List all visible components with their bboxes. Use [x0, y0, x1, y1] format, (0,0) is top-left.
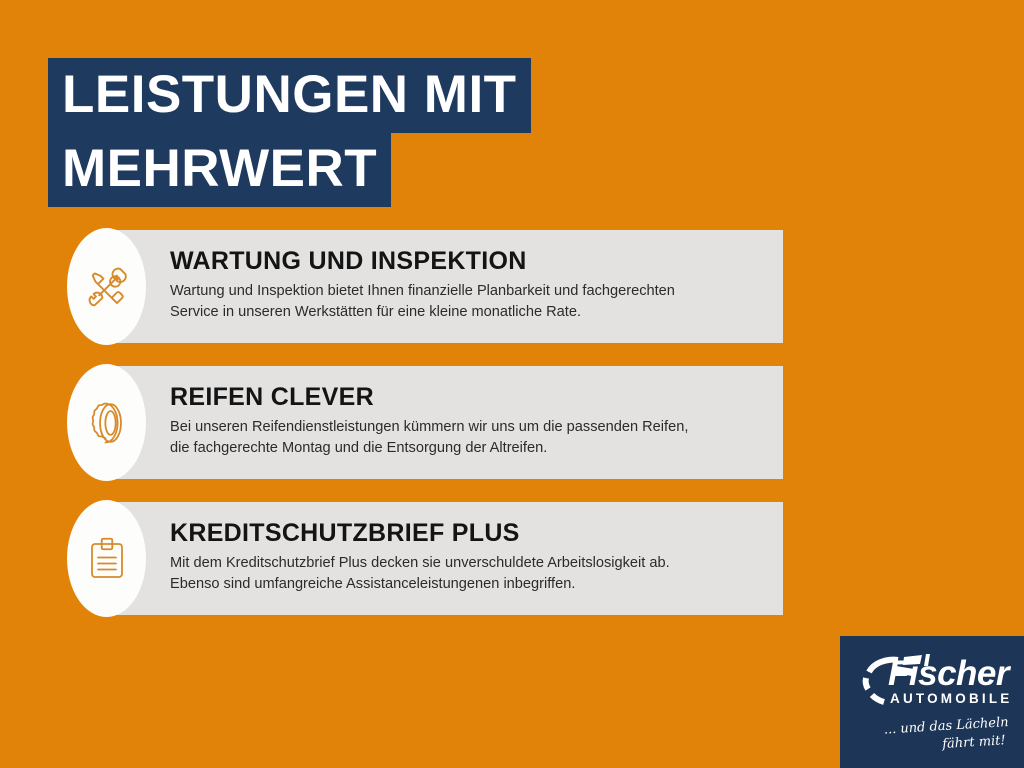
service-card-body: Bei unseren Reifendienstleistungen kümme…	[170, 417, 765, 458]
service-card-body: Wartung und Inspektion bietet Ihnen fina…	[170, 281, 765, 322]
service-card-text: REIFEN CLEVER Bei unseren Reifendienstle…	[170, 384, 770, 459]
headline-line-1: LEISTUNGEN MIT	[48, 58, 531, 133]
service-card-body-line: Bei unseren Reifendienstleistungen kümme…	[170, 417, 765, 438]
service-card-body-line: Wartung und Inspektion bietet Ihnen fina…	[170, 281, 765, 302]
tire-icon	[67, 364, 146, 481]
service-card-title: REIFEN CLEVER	[170, 384, 770, 410]
logo-subtitle: AUTOMOBILE	[890, 692, 1013, 706]
service-card-title: WARTUNG UND INSPEKTION	[170, 248, 770, 274]
wrench-screwdriver-icon	[67, 228, 146, 345]
service-card-body: Mit dem Kreditschutzbrief Plus decken si…	[170, 553, 765, 594]
service-card-text: KREDITSCHUTZBRIEF PLUS Mit dem Kreditsch…	[170, 520, 770, 595]
service-card-body-line: die fachgerechte Montag und die Entsorgu…	[170, 438, 765, 459]
service-card[interactable]: WARTUNG UND INSPEKTION Wartung und Inspe…	[0, 230, 1024, 343]
service-card-title: KREDITSCHUTZBRIEF PLUS	[170, 520, 770, 546]
page-title: LEISTUNGEN MIT MEHRWERT	[48, 58, 531, 207]
service-card-body-line: Ebenso sind umfangreiche Assistanceleist…	[170, 574, 765, 595]
service-card[interactable]: KREDITSCHUTZBRIEF PLUS Mit dem Kreditsch…	[0, 502, 1024, 615]
service-card[interactable]: REIFEN CLEVER Bei unseren Reifendienstle…	[0, 366, 1024, 479]
fischer-automobile-logo[interactable]: Fischer AUTOMOBILE ... und das Lächeln f…	[840, 636, 1024, 768]
service-card-text: WARTUNG UND INSPEKTION Wartung und Inspe…	[170, 248, 770, 323]
service-card-list: WARTUNG UND INSPEKTION Wartung und Inspe…	[0, 230, 1024, 638]
logo-tagline: ... und das Lächeln fährt mit!	[858, 714, 1010, 758]
clipboard-icon	[67, 500, 146, 617]
service-card-body-line: Service in unseren Werkstätten für eine …	[170, 302, 765, 323]
headline-line-2: MEHRWERT	[48, 132, 391, 207]
logo-wordmark: Fischer	[888, 656, 1009, 691]
service-card-body-line: Mit dem Kreditschutzbrief Plus decken si…	[170, 553, 765, 574]
